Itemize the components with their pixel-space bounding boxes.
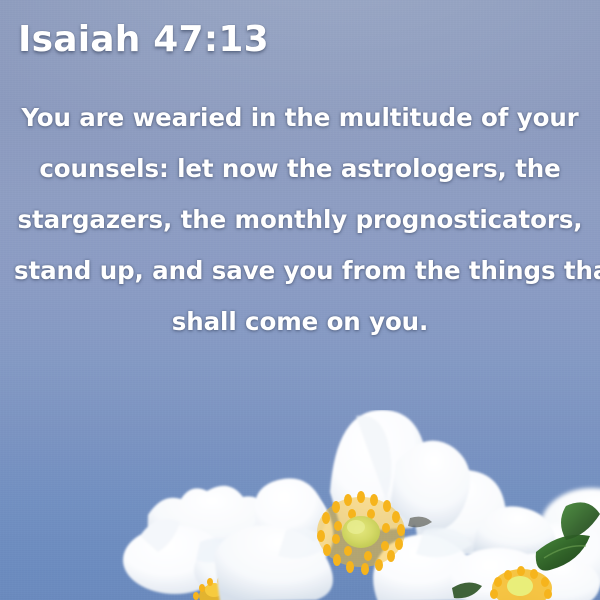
verse-line: counsels: let now the astrologers, the: [14, 143, 586, 194]
verse-line: stargazers, the monthly prognosticators,: [14, 194, 586, 245]
verse-text-block: You are wearied in the multitude of your…: [14, 92, 586, 347]
verse-line: stand up, and save you from the things t…: [14, 245, 586, 296]
verse-image-canvas: Isaiah 47:13 You are wearied in the mult…: [0, 0, 600, 600]
verse-reference-title: Isaiah 47:13: [18, 19, 269, 60]
verse-line: shall come on you.: [14, 296, 586, 347]
verse-line: You are wearied in the multitude of your: [14, 92, 586, 143]
anemone-flowers-foreground: [0, 410, 600, 600]
